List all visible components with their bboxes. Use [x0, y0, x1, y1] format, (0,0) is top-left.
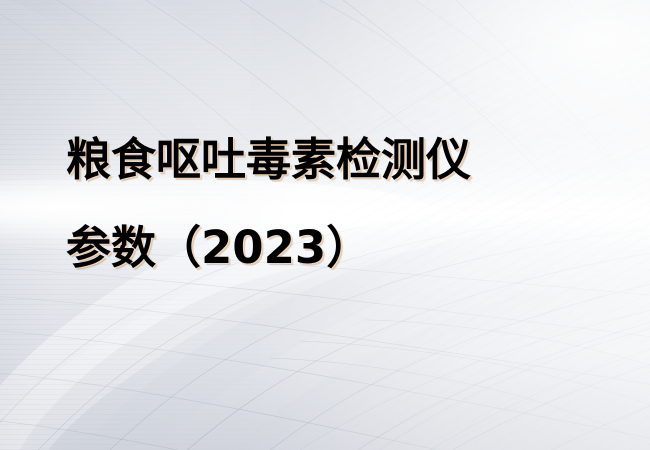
title-banner: 粮食呕吐毒素检测仪 参数（2023） [0, 0, 650, 450]
title-line-primary: 粮食呕吐毒素检测仪 [66, 116, 586, 204]
page-title: 粮食呕吐毒素检测仪 参数（2023） [66, 116, 586, 292]
title-line-secondary: 参数（2023） [66, 204, 586, 292]
